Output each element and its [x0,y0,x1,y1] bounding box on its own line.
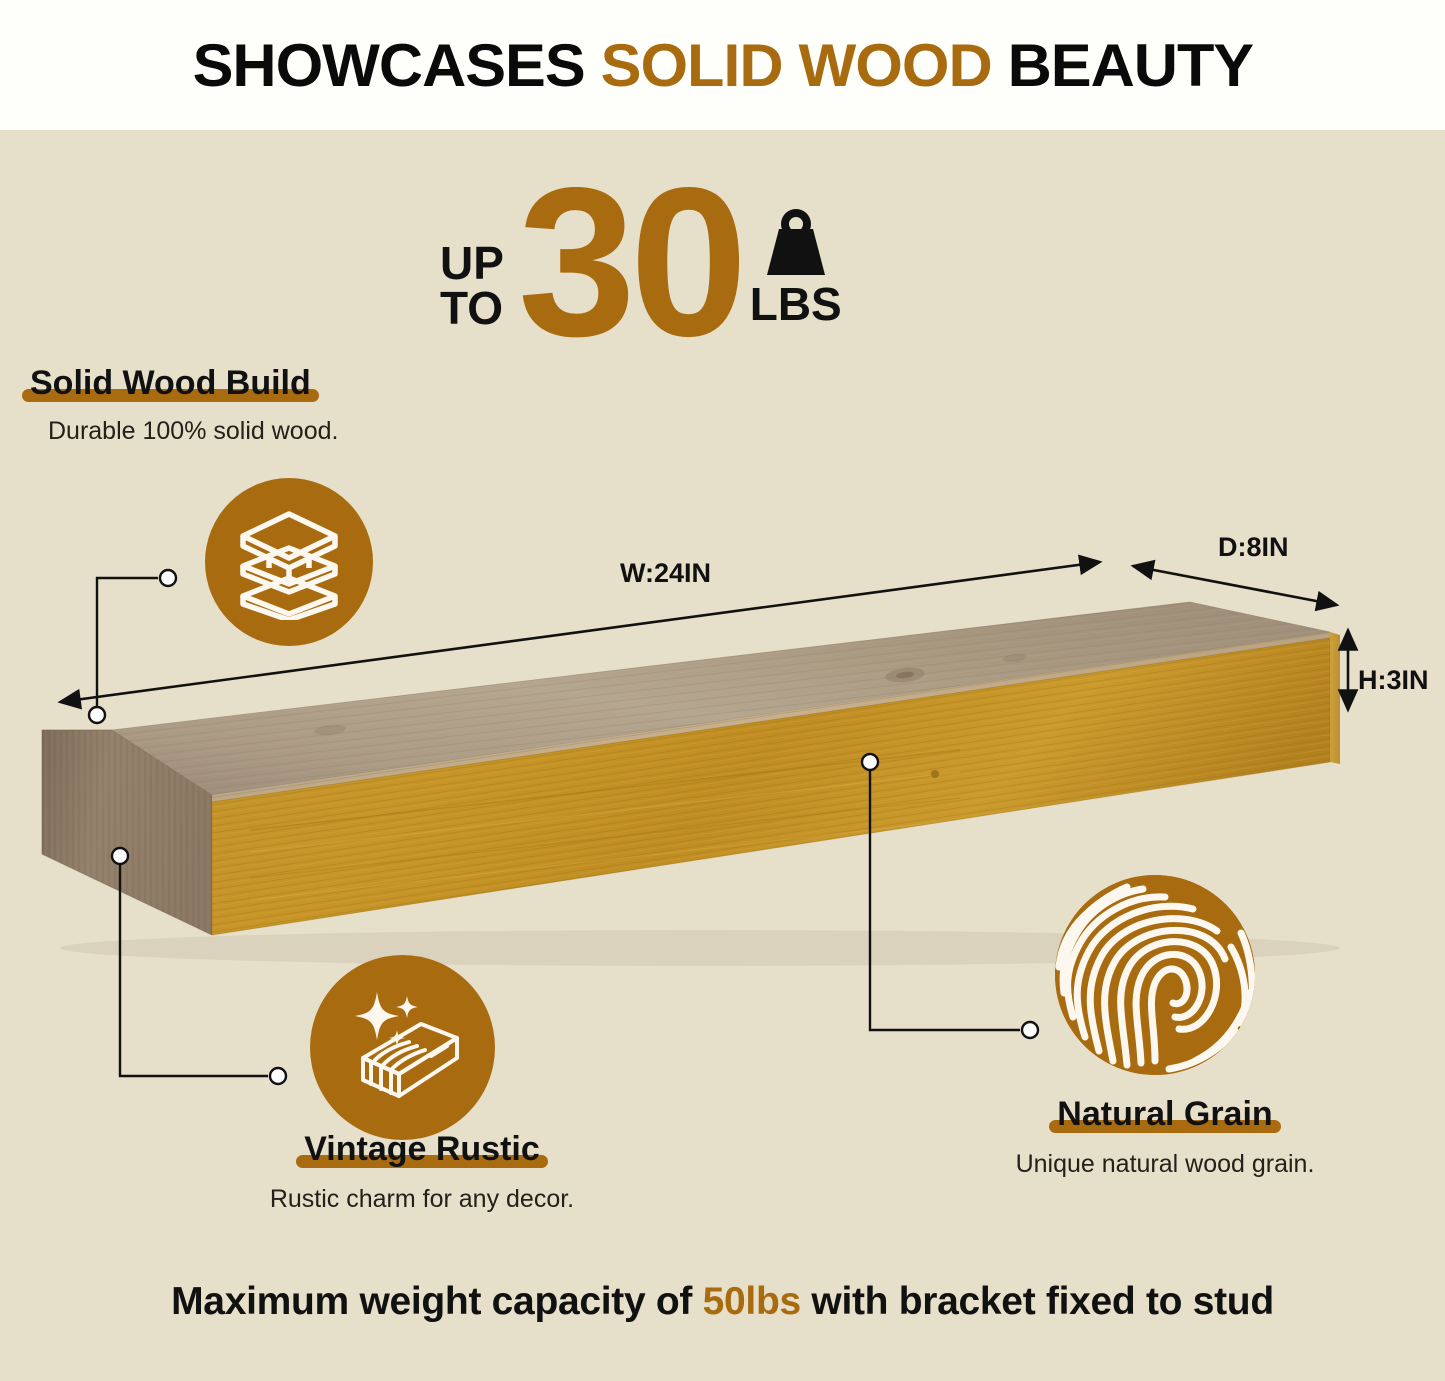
layered-wood-panels-icon [205,478,373,646]
feature-title-solid-wood: Solid Wood Build [22,364,319,403]
feature-subtitle-vintage-rustic: Rustic charm for any decor. [262,1185,582,1214]
page-title-part2: BEAUTY [991,32,1252,99]
height-dimension-label: H:3IN [1358,665,1429,696]
feature-title-vintage-rustic: Vintage Rustic [296,1130,548,1169]
header-band: SHOWCASES SOLID WOOD BEAUTY [0,0,1445,130]
feature-solid-wood-build: Solid Wood Build Durable 100% solid wood… [22,364,338,446]
feature-subtitle-natural-grain: Unique natural wood grain. [1000,1150,1330,1179]
caption-part1: Maximum weight capacity of [171,1280,703,1323]
capacity-unit-group: LBS [750,205,842,327]
depth-dimension-label: D:8IN [1218,532,1289,563]
up-label: UP [440,241,504,286]
caption-part2: with bracket fixed to stud [801,1280,1274,1323]
weight-icon [757,205,835,279]
capacity-unit-label: LBS [750,281,842,327]
infographic-stage: UP TO 30 LBS Solid Wood Build Durable 10… [0,130,1445,1381]
depth-dimension-arrow [1133,566,1337,605]
feature-subtitle-solid-wood: Durable 100% solid wood. [48,417,338,446]
up-to-label: UP TO [440,241,504,331]
leader-line-vintage-rustic [112,848,286,1084]
leader-line-natural-grain [862,754,1038,1038]
leader-line-solid-wood [89,570,176,723]
page-title-part1: SHOWCASES [192,32,600,99]
feature-title-natural-grain: Natural Grain [1049,1095,1280,1134]
weight-capacity-callout: UP TO 30 LBS [440,175,842,349]
page-title: SHOWCASES SOLID WOOD BEAUTY [192,31,1253,100]
wood-grain-pattern-icon [1055,875,1255,1075]
caption-accent: 50lbs [703,1280,801,1323]
feature-natural-grain: Natural Grain Unique natural wood grain. [1000,1095,1330,1179]
sparkling-wood-plank-icon [310,955,495,1140]
width-dimension-label: W:24IN [620,558,711,589]
max-capacity-caption: Maximum weight capacity of 50lbs with br… [0,1280,1445,1324]
capacity-number: 30 [518,175,742,349]
feature-vintage-rustic: Vintage Rustic Rustic charm for any deco… [262,1130,582,1214]
to-label: TO [440,286,504,331]
page-title-accent: SOLID WOOD [600,32,991,99]
